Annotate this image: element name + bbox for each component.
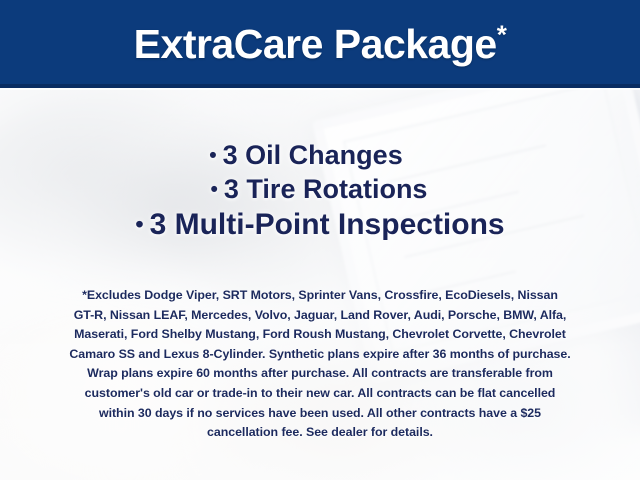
- offer-item-label: 3 Oil Changes: [223, 140, 403, 170]
- bullet-dot-icon: •: [211, 178, 218, 201]
- disclaimer-line: within 30 days if no services have been …: [26, 404, 614, 424]
- extracare-package-ad: ExtraCare Package* •3 Oil Changes •3 Tir…: [0, 0, 640, 480]
- page-title-text: ExtraCare Package: [134, 21, 497, 67]
- bullet-dot-icon: •: [209, 144, 216, 167]
- bullet-dot-icon: •: [135, 211, 143, 237]
- disclaimer-line: *Excludes Dodge Viper, SRT Motors, Sprin…: [26, 286, 614, 306]
- offer-item-multi-point-inspections: •3 Multi-Point Inspections: [0, 206, 640, 244]
- disclaimer-line: cancellation fee. See dealer for details…: [26, 423, 614, 443]
- disclaimer-line: Wrap plans expire 60 months after purcha…: [26, 364, 614, 384]
- title-asterisk: *: [497, 19, 507, 49]
- disclaimer-line: customer's old car or trade-in to their …: [26, 384, 614, 404]
- offer-item-label: 3 Tire Rotations: [224, 174, 428, 204]
- page-title: ExtraCare Package*: [134, 24, 507, 65]
- offer-list: •3 Oil Changes •3 Tire Rotations •3 Mult…: [0, 138, 640, 244]
- offer-item-tire-rotations: •3 Tire Rotations: [0, 172, 640, 206]
- offer-item-oil-changes: •3 Oil Changes: [0, 138, 640, 172]
- disclaimer-line: Maserati, Ford Shelby Mustang, Ford Rous…: [26, 325, 614, 345]
- offer-item-label: 3 Multi-Point Inspections: [150, 208, 505, 241]
- header-banner: ExtraCare Package*: [0, 0, 640, 88]
- disclaimer-text: *Excludes Dodge Viper, SRT Motors, Sprin…: [26, 286, 614, 443]
- disclaimer-line: Camaro SS and Lexus 8-Cylinder. Syntheti…: [26, 345, 614, 365]
- disclaimer-line: GT-R, Nissan LEAF, Mercedes, Volvo, Jagu…: [26, 306, 614, 326]
